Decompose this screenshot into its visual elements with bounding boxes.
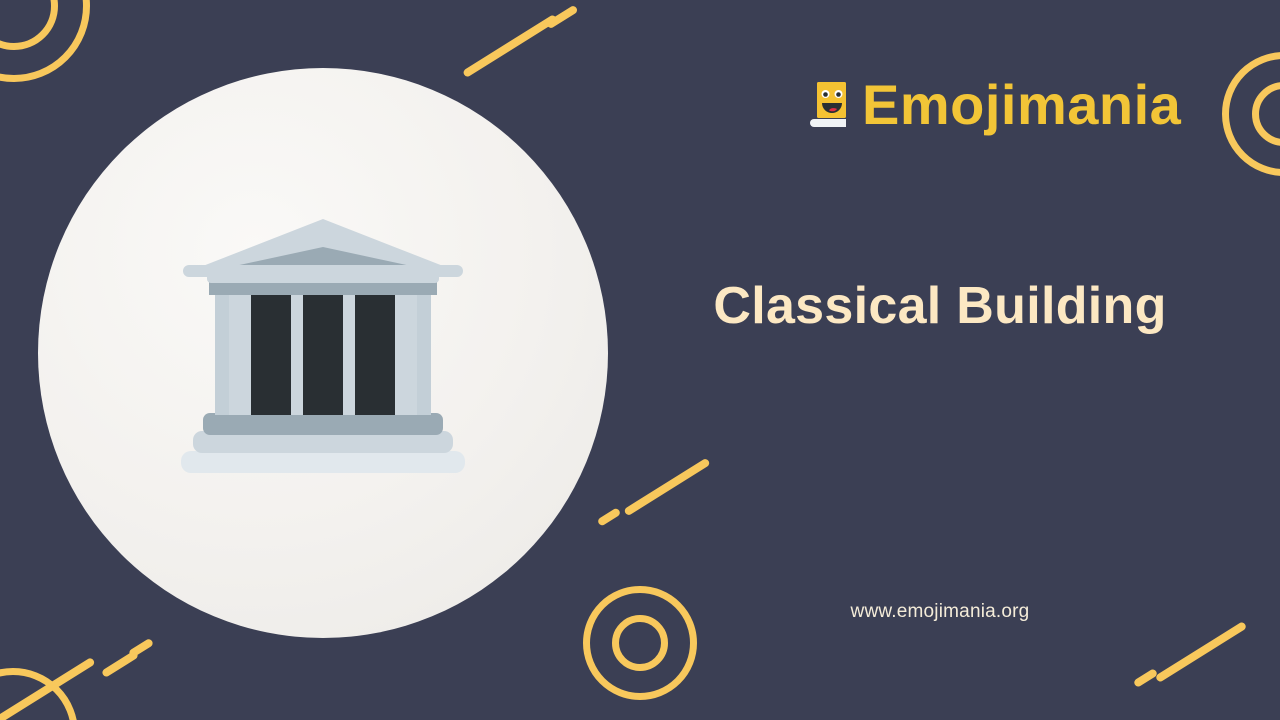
dash-bottom-right-long-icon bbox=[1155, 621, 1247, 683]
dash-mid-long-icon bbox=[623, 458, 710, 517]
dash-bottom-left-mid-icon bbox=[101, 650, 139, 678]
ring-bottom-center-inner-icon bbox=[612, 615, 668, 671]
classical-building-emoji-icon bbox=[173, 203, 473, 503]
ring-top-right-inner-icon bbox=[1252, 82, 1280, 146]
dash-bottom-left-short-icon bbox=[128, 638, 154, 659]
brand-name: Emojimania bbox=[862, 77, 1181, 133]
dash-top-long-icon bbox=[462, 14, 558, 78]
emoji-disc bbox=[38, 68, 608, 638]
smiling-book-icon bbox=[808, 79, 854, 131]
dash-mid-short-icon bbox=[597, 507, 622, 527]
site-url: www.emojimania.org bbox=[640, 601, 1240, 623]
dash-top-short-icon bbox=[545, 5, 578, 30]
brand-lockup: Emojimania bbox=[808, 70, 1181, 140]
ring-top-left-inner-icon bbox=[0, 0, 58, 50]
page-title: Classical Building bbox=[640, 278, 1240, 335]
ring-top-right-outer-icon bbox=[1222, 52, 1280, 176]
ring-bottom-left-icon bbox=[0, 668, 78, 720]
emoji-info-card: Emojimania Classical Building www.emojim… bbox=[0, 0, 1280, 720]
dash-bottom-right-short-icon bbox=[1133, 668, 1158, 688]
dash-bottom-left-long-icon bbox=[0, 657, 96, 720]
ring-top-left-outer-icon bbox=[0, 0, 90, 82]
